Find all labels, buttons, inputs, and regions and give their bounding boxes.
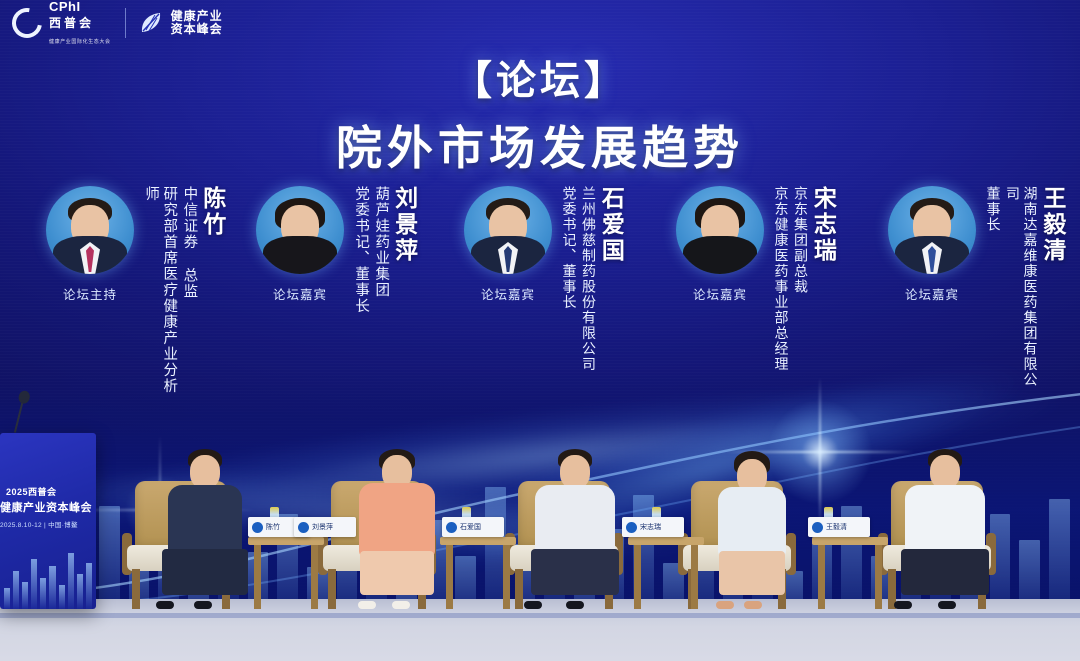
panelist-0-title: 研究部首席医疗健康产业分析师 xyxy=(142,186,178,401)
seated-person-shi-aiguo xyxy=(520,449,630,609)
logo-hc-line2: 资本峰会 xyxy=(171,22,223,36)
logo-hc-line1: 健康产业 xyxy=(171,9,223,23)
side-table-2 xyxy=(628,537,704,609)
panelist-3-role: 论坛嘉宾 xyxy=(693,284,747,303)
podium-line3: 2025.8.10-12 | 中国·博鳌 xyxy=(0,519,78,529)
panelist-1-title: 党委书记、董事长 xyxy=(352,186,370,314)
placard-4: 王毅清 xyxy=(808,517,870,537)
panelist-0-name: 陈竹 xyxy=(200,186,224,238)
logo-cphi: CPhI 西普会 健康产业国际化生态大会 xyxy=(0,0,125,51)
panelist-3-org: 京东集团副总裁 xyxy=(792,186,810,295)
logo-cphi-name: 西普会 xyxy=(49,16,94,30)
avatar-liu-jingping xyxy=(256,186,344,274)
panelist-1-role: 论坛嘉宾 xyxy=(273,284,327,303)
side-table-3 xyxy=(812,537,888,609)
podium-line2: 健康产业资本峰会 xyxy=(0,499,92,515)
seated-person-chen-zhu xyxy=(150,449,260,609)
seated-person-song-zhirui xyxy=(700,451,804,609)
panelist-2-name: 石爱国 xyxy=(599,186,623,264)
logo-cphi-text: CPhI 西普会 健康产业国际化生态大会 xyxy=(49,0,111,47)
forum-title: 【论坛】 院外市场发展趋势 xyxy=(0,48,1080,178)
seated-person-liu-jingping xyxy=(342,449,452,609)
podium-line1: 2025西普会 xyxy=(6,485,57,498)
panelist-1-head: 论坛嘉宾 xyxy=(252,186,348,303)
placard-logo-icon xyxy=(298,522,309,533)
panelist-0-texts: 陈竹 中信证券 总监 研究部首席医疗健康产业分析师 xyxy=(142,186,225,401)
panelist-4-name: 王毅清 xyxy=(1041,186,1065,264)
panelist-2-texts: 石爱国 兰州佛慈制药股份有限公司 党委书记、董事长 xyxy=(560,186,623,372)
panelist-card-1: 论坛嘉宾 刘景萍 葫芦娃药业集团 党委书记、董事长 xyxy=(252,186,417,314)
panelist-2-title: 党委书记、董事长 xyxy=(560,186,578,310)
title-main-line: 院外市场发展趋势 xyxy=(0,112,1080,178)
podium-chart-motif xyxy=(0,539,96,609)
panelist-0-org: 中信证券 总监 xyxy=(180,186,198,300)
panelist-3-title: 京东健康医药事业部总经理 xyxy=(772,186,790,372)
placard-3: 宋志瑞 xyxy=(622,517,684,537)
panelist-card-3: 论坛嘉宾 宋志瑞 京东集团副总裁 京东健康医药事业部总经理 xyxy=(672,186,835,372)
placard-1-name: 刘景萍 xyxy=(312,522,333,532)
panelist-1-org: 葫芦娃药业集团 xyxy=(372,186,390,298)
ring-logo-icon xyxy=(6,2,48,44)
panelist-3-head: 论坛嘉宾 xyxy=(672,186,768,303)
panelist-card-2: 论坛嘉宾 石爱国 兰州佛慈制药股份有限公司 党委书记、董事长 xyxy=(460,186,623,372)
panelist-4-org: 湖南达嘉维康医药集团有限公司 xyxy=(1004,186,1039,401)
panelist-4-role: 论坛嘉宾 xyxy=(905,284,959,303)
panelist-card-4: 论坛嘉宾 王毅清 湖南达嘉维康医药集团有限公司 董事长 xyxy=(884,186,1065,401)
avatar-chen-zhu xyxy=(46,186,134,274)
panelist-1-name: 刘景萍 xyxy=(392,186,416,264)
stage-floor xyxy=(0,613,1080,661)
placard-0-name: 陈竹 xyxy=(266,522,280,532)
panelist-2-org: 兰州佛慈制药股份有限公司 xyxy=(580,186,598,372)
stage-screenshot: CPhI 西普会 健康产业国际化生态大会 健康产业 资本峰会 【论坛】 院外市场… xyxy=(0,0,1080,661)
logo-health-capital: 健康产业 资本峰会 xyxy=(126,6,235,41)
placard-2-name: 石爱国 xyxy=(460,522,481,532)
panelist-2-role: 论坛嘉宾 xyxy=(481,284,535,303)
panelist-2-head: 论坛嘉宾 xyxy=(460,186,556,303)
panelist-card-0: 论坛主持 陈竹 中信证券 总监 研究部首席医疗健康产业分析师 xyxy=(42,186,225,401)
panelist-strip: 论坛主持 陈竹 中信证券 总监 研究部首席医疗健康产业分析师 论坛嘉宾 刘景萍 … xyxy=(0,186,1080,416)
panelist-0-role: 论坛主持 xyxy=(63,284,117,303)
podium-banner: 2025西普会 健康产业资本峰会 2025.8.10-12 | 中国·博鳌 xyxy=(0,433,96,609)
title-bracket-line: 【论坛】 xyxy=(0,48,1080,106)
panelist-4-title: 董事长 xyxy=(984,186,1002,233)
panelist-4-head: 论坛嘉宾 xyxy=(884,186,980,303)
logo-cphi-acronym: CPhI xyxy=(49,0,81,14)
avatar-wang-yiqing xyxy=(888,186,976,274)
panelist-1-texts: 刘景萍 葫芦娃药业集团 党委书记、董事长 xyxy=(352,186,417,314)
avatar-shi-aiguo xyxy=(464,186,552,274)
seated-person-wang-yiqing xyxy=(890,449,1000,609)
leaf-icon xyxy=(138,10,164,36)
panelist-4-texts: 王毅清 湖南达嘉维康医药集团有限公司 董事长 xyxy=(984,186,1065,401)
placard-3-name: 宋志瑞 xyxy=(640,522,661,532)
avatar-song-zhirui xyxy=(676,186,764,274)
logo-health-capital-text: 健康产业 资本峰会 xyxy=(171,10,223,37)
logo-cphi-tagline: 健康产业国际化生态大会 xyxy=(49,39,111,45)
panelist-3-texts: 宋志瑞 京东集团副总裁 京东健康医药事业部总经理 xyxy=(772,186,835,372)
panelist-3-name: 宋志瑞 xyxy=(811,186,835,264)
placard-logo-icon xyxy=(812,522,823,533)
panelist-0-head: 论坛主持 xyxy=(42,186,138,303)
placard-4-name: 王毅清 xyxy=(826,522,847,532)
event-logo-bar: CPhI 西普会 健康产业国际化生态大会 健康产业 资本峰会 xyxy=(0,0,235,46)
